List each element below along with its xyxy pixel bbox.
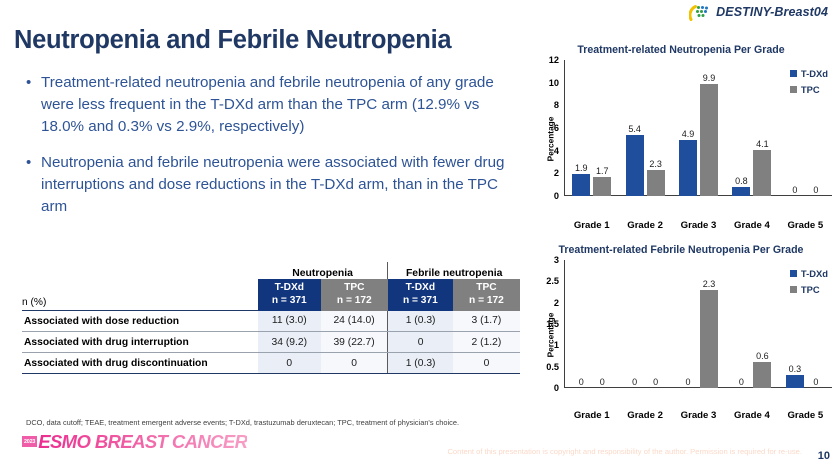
bar-value-label: 0 xyxy=(686,377,691,387)
column-arm-label: TPC xyxy=(453,282,520,294)
row-value: 11 (3.0) xyxy=(258,311,321,332)
bar-slot: 0.8 xyxy=(732,60,750,196)
bar-tpc xyxy=(700,290,718,388)
bar-value-label: 2.3 xyxy=(649,159,662,169)
y-axis-tick-label: 0.5 xyxy=(546,362,559,372)
y-axis-tick-label: 1.5 xyxy=(546,319,559,329)
page-number: 10 xyxy=(818,450,830,462)
bar-t-dxd xyxy=(732,187,750,196)
bar-slot: 0 xyxy=(732,260,750,388)
chart-title: Treatment-related Febrile Neutropenia Pe… xyxy=(528,244,834,256)
bar-tpc xyxy=(593,177,611,196)
bar-value-label: 0.6 xyxy=(756,351,769,361)
chart-legend: T-DXd TPC xyxy=(790,268,828,300)
bar-value-label: 0 xyxy=(632,377,637,387)
bullet-icon: • xyxy=(26,152,41,219)
bar-t-dxd xyxy=(786,375,804,388)
bar-tpc xyxy=(753,150,771,196)
outcomes-table: Neutropenia Febrile neutropenia n (%) T-… xyxy=(22,262,520,374)
study-name: DESTINY-Breast04 xyxy=(716,5,828,19)
column-n-label: n = 172 xyxy=(453,295,520,307)
bar-slot: 2.3 xyxy=(700,260,718,388)
column-arm-label: T-DXd xyxy=(388,282,453,294)
y-axis-tick-label: 2.5 xyxy=(546,276,559,286)
bar-value-label: 9.9 xyxy=(703,73,716,83)
bar-value-label: 5.4 xyxy=(628,124,641,134)
row-value: 0 xyxy=(453,353,520,374)
bar-slot: 0.6 xyxy=(753,260,771,388)
bar-slot: 0 xyxy=(593,260,611,388)
column-arm-label: T-DXd xyxy=(258,282,321,294)
x-axis-tick-label: Grade 4 xyxy=(725,220,778,238)
y-axis-tick-label: 1 xyxy=(554,340,559,350)
row-value: 2 (1.2) xyxy=(453,332,520,353)
bar-value-label: 4.1 xyxy=(756,139,769,149)
page-title: Neutropenia and Febrile Neutropenia xyxy=(14,26,451,55)
row-value: 1 (0.3) xyxy=(388,353,453,374)
x-axis-ticks: Grade 1Grade 2Grade 3Grade 4Grade 5 xyxy=(565,220,832,238)
bar-group: 02.3 xyxy=(672,260,725,388)
corner-label: n (%) xyxy=(22,279,258,311)
column-n-label: n = 371 xyxy=(388,295,453,307)
y-axis-tick-label: 0 xyxy=(554,383,559,393)
y-axis-tick-label: 2 xyxy=(554,168,559,178)
row-label: Associated with dose reduction xyxy=(22,311,258,332)
bar-value-label: 0.3 xyxy=(789,364,802,374)
column-arm-label: TPC xyxy=(321,282,388,294)
table-group-header-row: Neutropenia Febrile neutropenia xyxy=(22,262,520,279)
column-header-neutropenia-tpc: TPC n = 172 xyxy=(321,279,388,311)
chart-neutropenia-per-grade: Treatment-related Neutropenia Per Grade … xyxy=(528,44,834,240)
row-value: 24 (14.0) xyxy=(321,311,388,332)
esmo-logo-text: ESMO BREAST CANCER xyxy=(37,432,247,451)
bar-slot: 1.7 xyxy=(593,60,611,196)
chart-febrile-neutropenia-per-grade: Treatment-related Febrile Neutropenia Pe… xyxy=(528,244,834,430)
legend-item-tpc: TPC xyxy=(790,284,828,295)
legend-label: TPC xyxy=(801,84,820,95)
bar-value-label: 2.3 xyxy=(703,279,716,289)
bar-group: 00 xyxy=(618,260,671,388)
bar-slot: 4.9 xyxy=(679,60,697,196)
copyright-notice: Content of this presentation is copyrigh… xyxy=(447,447,802,456)
row-value: 0 xyxy=(258,353,321,374)
y-axis-tick-label: 6 xyxy=(554,123,559,133)
legend-item-tpc: TPC xyxy=(790,84,828,95)
list-item: • Treatment-related neutropenia and febr… xyxy=(26,72,518,139)
legend-item-tdxd: T-DXd xyxy=(790,68,828,79)
abbreviations-footnote: DCO, data cutoff; TEAE, treatment emerge… xyxy=(26,418,459,427)
row-label: Associated with drug discontinuation xyxy=(22,353,258,374)
spacer-cell xyxy=(22,262,258,279)
plot-area: Percentage 00.511.522.53 000002.300.60.3… xyxy=(528,260,834,410)
x-axis-tick-label: Grade 4 xyxy=(725,410,778,428)
table-row: Associated with dose reduction 11 (3.0) … xyxy=(22,311,520,332)
legend-swatch-icon xyxy=(790,270,797,277)
bar-tpc xyxy=(647,170,665,196)
bar-t-dxd xyxy=(626,135,644,196)
bar-slot: 2.3 xyxy=(647,60,665,196)
bar-value-label: 0.8 xyxy=(735,176,748,186)
bar-slot: 9.9 xyxy=(700,60,718,196)
bar-group: 00.6 xyxy=(725,260,778,388)
y-axis-tick-label: 3 xyxy=(554,255,559,265)
bar-t-dxd xyxy=(679,140,697,196)
column-header-febrile-tpc: TPC n = 172 xyxy=(453,279,520,311)
legend-label: T-DXd xyxy=(801,268,828,279)
bullet-icon: • xyxy=(26,72,41,139)
x-axis-tick-label: Grade 1 xyxy=(565,220,618,238)
x-axis-tick-label: Grade 5 xyxy=(779,220,832,238)
y-axis-tick-label: 4 xyxy=(554,146,559,156)
esmo-year-badge: 2023 xyxy=(22,436,37,447)
bar-slot: 0 xyxy=(647,260,665,388)
bar-slot: 0 xyxy=(679,260,697,388)
x-axis-tick-label: Grade 3 xyxy=(672,410,725,428)
bar-group: 4.99.9 xyxy=(672,60,725,196)
legend-label: TPC xyxy=(801,284,820,295)
bar-value-label: 0 xyxy=(813,185,818,195)
bar-slot: 1.9 xyxy=(572,60,590,196)
bar-value-label: 0 xyxy=(600,377,605,387)
esmo-logo: 2023 ESMO BREAST CANCER xyxy=(22,432,247,451)
x-axis-tick-label: Grade 2 xyxy=(618,410,671,428)
row-value: 3 (1.7) xyxy=(453,311,520,332)
table-row: Associated with drug discontinuation 0 0… xyxy=(22,353,520,374)
row-value: 0 xyxy=(321,353,388,374)
bullet-text: Treatment-related neutropenia and febril… xyxy=(41,72,518,139)
row-value: 0 xyxy=(388,332,453,353)
bar-tpc xyxy=(753,362,771,388)
chart-title: Treatment-related Neutropenia Per Grade xyxy=(528,44,834,56)
bar-group: 0.84.1 xyxy=(725,60,778,196)
list-item: • Neutropenia and febrile neutropenia we… xyxy=(26,152,518,219)
x-axis-tick-label: Grade 3 xyxy=(672,220,725,238)
bar-value-label: 0 xyxy=(813,377,818,387)
y-axis-tick-label: 12 xyxy=(549,55,559,65)
bar-value-label: 0 xyxy=(653,377,658,387)
x-axis-tick-label: Grade 1 xyxy=(565,410,618,428)
x-axis-tick-label: Grade 2 xyxy=(618,220,671,238)
y-axis-ticks: 024681012 xyxy=(536,60,562,196)
y-axis-tick-label: 2 xyxy=(554,298,559,308)
bar-group: 5.42.3 xyxy=(618,60,671,196)
bar-slot: 0 xyxy=(626,260,644,388)
legend-swatch-icon xyxy=(790,286,797,293)
bar-group: 1.91.7 xyxy=(565,60,618,196)
bar-value-label: 1.7 xyxy=(596,166,609,176)
bar-value-label: 0 xyxy=(739,377,744,387)
group-header-neutropenia: Neutropenia xyxy=(258,262,388,279)
group-header-febrile-neutropenia: Febrile neutropenia xyxy=(388,262,520,279)
x-axis-ticks: Grade 1Grade 2Grade 3Grade 4Grade 5 xyxy=(565,410,832,428)
legend-label: T-DXd xyxy=(801,68,828,79)
bar-t-dxd xyxy=(572,174,590,196)
legend-swatch-icon xyxy=(790,70,797,77)
column-header-neutropenia-tdxd: T-DXd n = 371 xyxy=(258,279,321,311)
bar-slot: 4.1 xyxy=(753,60,771,196)
y-axis-tick-label: 8 xyxy=(554,100,559,110)
row-value: 34 (9.2) xyxy=(258,332,321,353)
plot-area: Percentage 024681012 1.91.75.42.34.99.90… xyxy=(528,60,834,218)
legend-swatch-icon xyxy=(790,86,797,93)
bar-value-label: 0 xyxy=(579,377,584,387)
bar-tpc xyxy=(700,84,718,196)
chart-legend: T-DXd TPC xyxy=(790,68,828,100)
destiny-breast-logo-icon xyxy=(689,3,711,21)
bullet-text: Neutropenia and febrile neutropenia were… xyxy=(41,152,518,219)
bar-slot: 5.4 xyxy=(626,60,644,196)
row-value: 1 (0.3) xyxy=(388,311,453,332)
study-brand: DESTINY-Breast04 xyxy=(689,3,828,21)
x-axis-tick-label: Grade 5 xyxy=(779,410,832,428)
row-label: Associated with drug interruption xyxy=(22,332,258,353)
legend-item-tdxd: T-DXd xyxy=(790,268,828,279)
table-column-header-row: n (%) T-DXd n = 371 TPC n = 172 T-DXd n … xyxy=(22,279,520,311)
column-n-label: n = 371 xyxy=(258,295,321,307)
bar-value-label: 0 xyxy=(792,185,797,195)
y-axis-tick-label: 10 xyxy=(549,78,559,88)
bar-value-label: 4.9 xyxy=(682,129,695,139)
table-row: Associated with drug interruption 34 (9.… xyxy=(22,332,520,353)
y-axis-ticks: 00.511.522.53 xyxy=(536,260,562,388)
bullet-list: • Treatment-related neutropenia and febr… xyxy=(26,72,518,231)
y-axis-tick-label: 0 xyxy=(554,191,559,201)
bar-group: 00 xyxy=(565,260,618,388)
column-header-febrile-tdxd: T-DXd n = 371 xyxy=(388,279,453,311)
column-n-label: n = 172 xyxy=(321,295,388,307)
row-value: 39 (22.7) xyxy=(321,332,388,353)
bar-slot: 0 xyxy=(572,260,590,388)
bar-value-label: 1.9 xyxy=(575,163,588,173)
